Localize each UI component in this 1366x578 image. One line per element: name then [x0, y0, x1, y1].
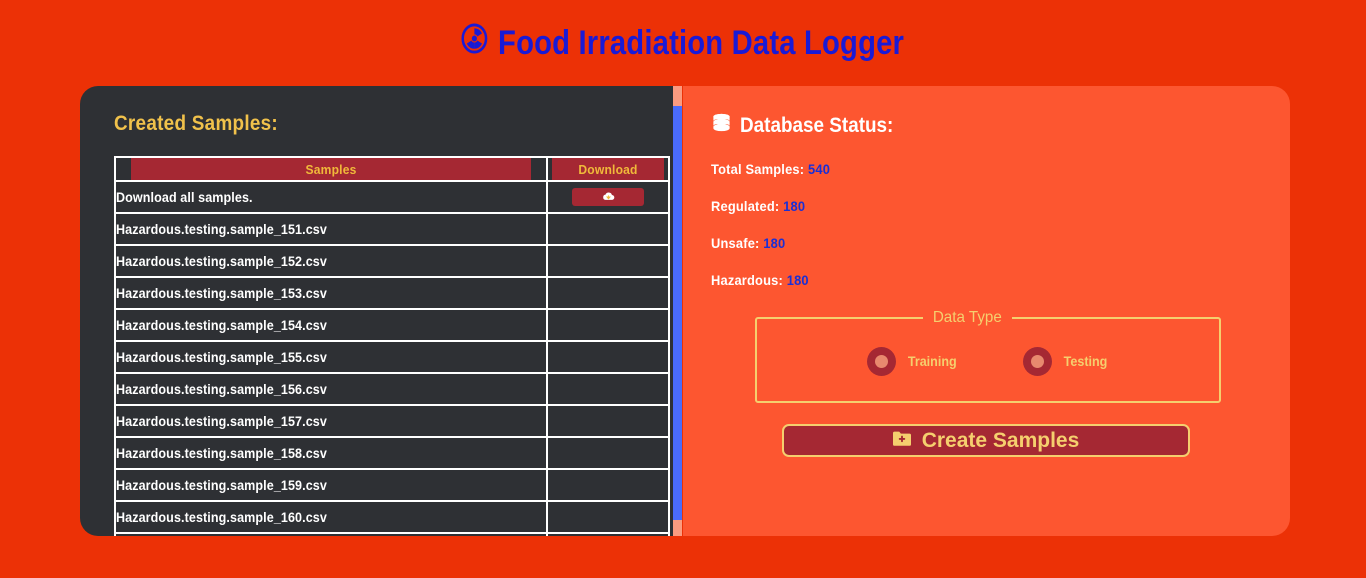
stat-label: Regulated:: [711, 198, 779, 214]
sample-file-name: Hazardous.testing.sample_151.csv: [115, 213, 547, 245]
database-status-panel: Database Status: Total Samples: 540 Regu…: [683, 86, 1290, 536]
download-cell: [547, 213, 669, 245]
database-status-heading: Database Status:: [711, 112, 1260, 139]
download-cell: [547, 501, 669, 533]
app-header: Food Irradiation Data Logger: [0, 0, 1366, 86]
radio-label-training: Training: [908, 354, 957, 369]
cloud-download-icon: [602, 190, 615, 205]
table-row[interactable]: Hazardous.testing.sample_156.csv: [115, 373, 669, 405]
sample-file-name: Hazardous.testing.sample_158.csv: [115, 437, 547, 469]
table-row[interactable]: Hazardous.testing.sample_154.csv: [115, 309, 669, 341]
database-icon: [711, 112, 732, 139]
data-type-legend: Data Type: [925, 309, 1009, 327]
sample-file-name: Hazardous.testing.sample_154.csv: [115, 309, 547, 341]
download-cell: [547, 341, 669, 373]
table-row[interactable]: Hazardous.testing.sample_153.csv: [115, 277, 669, 309]
sample-file-name: Hazardous.testing.sample_159.csv: [115, 469, 547, 501]
create-samples-button[interactable]: Create Samples: [782, 424, 1190, 457]
table-row[interactable]: Hazardous.testing.sample_157.csv: [115, 405, 669, 437]
radiation-icon: [461, 23, 488, 63]
table-row[interactable]: Hazardous.testing.sample_158.csv: [115, 437, 669, 469]
stat-value: 180: [783, 198, 805, 214]
stat-unsafe: Unsafe: 180: [711, 235, 1216, 251]
download-cell: [547, 373, 669, 405]
download-cell: [547, 405, 669, 437]
radio-option-training[interactable]: Training: [867, 347, 959, 376]
stat-label: Total Samples:: [711, 161, 804, 177]
sample-file-name: Hazardous.testing.sample_157.csv: [115, 405, 547, 437]
stat-value: 540: [808, 161, 830, 177]
sample-file-name: Hazardous.testing.sample_152.csv: [115, 245, 547, 277]
sample-file-name: Hazardous.testing.sample_153.csv: [115, 277, 547, 309]
download-all-cell: [547, 181, 669, 213]
scrollbar-thumb[interactable]: [673, 106, 682, 520]
data-type-fieldset: Data Type Training Testing: [755, 309, 1221, 403]
sample-file-name: Hazardous.testing.sample_156.csv: [115, 373, 547, 405]
download-cell: [547, 437, 669, 469]
table-row[interactable]: Hazardous.testing.sample_159.csv: [115, 469, 669, 501]
download-cell: [547, 309, 669, 341]
radio-option-testing[interactable]: Testing: [1023, 347, 1109, 376]
sample-file-name: Hazardous.testing.sample_161.csv: [115, 533, 547, 536]
download-all-label: Download all samples.: [115, 181, 547, 213]
samples-table: Samples Download Download all samples.: [114, 156, 670, 536]
table-header-row: Samples Download: [115, 157, 669, 181]
workspace: Created Samples: Samples Download Downlo…: [0, 86, 1366, 578]
download-cell: [547, 277, 669, 309]
database-status-heading-text: Database Status:: [740, 114, 893, 138]
download-cell: [547, 245, 669, 277]
column-header-samples: Samples: [130, 157, 532, 181]
samples-panel-scrollbar[interactable]: [673, 86, 682, 536]
table-row-download-all: Download all samples.: [115, 181, 669, 213]
page-title: Food Irradiation Data Logger: [461, 23, 904, 63]
stat-label: Unsafe:: [711, 235, 760, 251]
table-row[interactable]: Hazardous.testing.sample_151.csv: [115, 213, 669, 245]
table-row[interactable]: Hazardous.testing.sample_161.csv: [115, 533, 669, 536]
download-cell: [547, 533, 669, 536]
download-cell: [547, 469, 669, 501]
folder-plus-icon: [892, 429, 912, 453]
table-row[interactable]: Hazardous.testing.sample_160.csv: [115, 501, 669, 533]
stat-label: Hazardous:: [711, 272, 783, 288]
stat-value: 180: [763, 235, 785, 251]
stat-value: 180: [787, 272, 809, 288]
stat-hazardous: Hazardous: 180: [711, 272, 1216, 288]
created-samples-heading: Created Samples:: [114, 112, 599, 136]
radio-button-testing[interactable]: [1023, 347, 1052, 376]
radio-label-testing: Testing: [1063, 354, 1107, 369]
table-row[interactable]: Hazardous.testing.sample_152.csv: [115, 245, 669, 277]
sample-file-name: Hazardous.testing.sample_160.csv: [115, 501, 547, 533]
created-samples-panel: Created Samples: Samples Download Downlo…: [80, 86, 673, 536]
page-title-text: Food Irradiation Data Logger: [498, 24, 904, 63]
stat-total-samples: Total Samples: 540: [711, 161, 1216, 177]
create-samples-label: Create Samples: [922, 429, 1080, 453]
column-header-download: Download: [551, 157, 664, 181]
samples-table-body: Download all samples.: [115, 181, 669, 536]
download-all-button[interactable]: [572, 188, 644, 206]
stat-regulated: Regulated: 180: [711, 198, 1216, 214]
data-type-radio-group: Training Testing: [757, 329, 1219, 393]
radio-button-training[interactable]: [867, 347, 896, 376]
table-row[interactable]: Hazardous.testing.sample_155.csv: [115, 341, 669, 373]
sample-file-name: Hazardous.testing.sample_155.csv: [115, 341, 547, 373]
